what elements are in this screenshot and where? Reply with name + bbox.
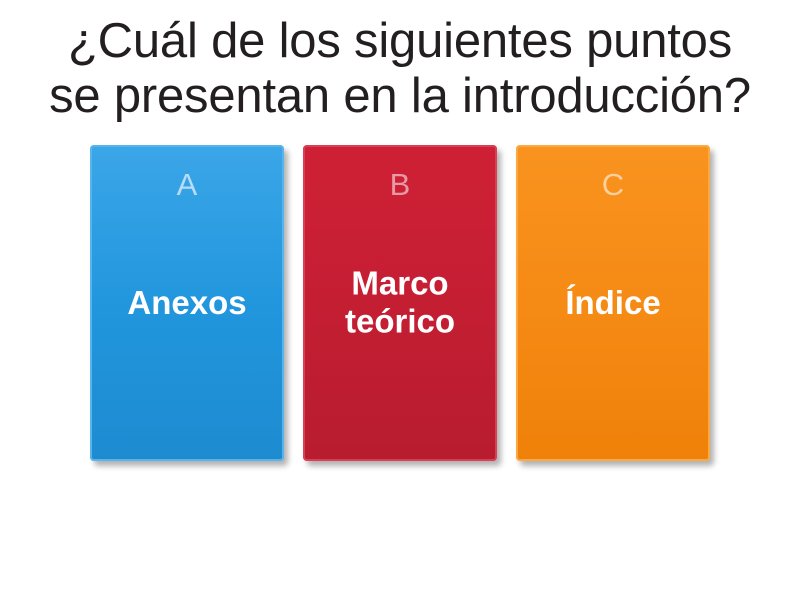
answer-option-c[interactable]: C Índice — [516, 145, 710, 461]
answer-option-c-text: Índice — [524, 284, 702, 322]
answer-options-list: A Anexos B Marco teórico C Índice — [90, 145, 710, 461]
question-text: ¿Cuál de los siguientes puntos se presen… — [30, 14, 770, 125]
answer-option-a-text: Anexos — [98, 284, 276, 322]
quiz-container: ¿Cuál de los siguientes puntos se presen… — [0, 0, 800, 600]
answer-option-b-text: Marco teórico — [311, 264, 489, 341]
answer-option-a[interactable]: A Anexos — [90, 145, 284, 461]
answer-option-b[interactable]: B Marco teórico — [303, 145, 497, 461]
answer-option-b-letter: B — [390, 169, 411, 200]
answer-option-c-letter: C — [602, 169, 624, 200]
answer-option-a-letter: A — [177, 169, 198, 200]
